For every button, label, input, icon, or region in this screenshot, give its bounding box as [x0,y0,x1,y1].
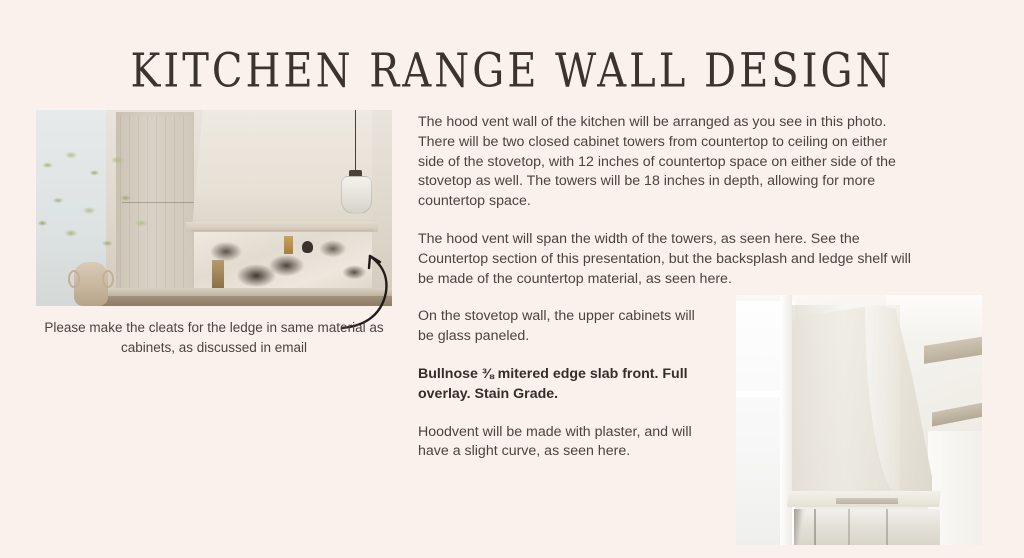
left-reference-photo [36,110,392,306]
paragraph-2: The hood vent will span the width of the… [418,230,914,289]
photo-marble-vein [886,509,888,545]
paragraph-3: On the stovetop wall, the upper cabinets… [418,307,714,347]
photo-counter-item-dark [302,241,313,253]
photo-ledge-shelf [192,226,374,231]
photo-counter-item-brass [284,236,293,254]
photo-marble-vein [848,509,850,545]
slide-canvas: KITCHEN RANGE WALL DESIGN Please make th… [0,0,1024,558]
paragraph-5: Hoodvent will be made with plaster, and … [418,423,714,463]
left-photo-caption: Please make the cleats for the ledge in … [36,318,392,358]
photo-vase [74,262,108,306]
photo-pendant-light [341,176,372,214]
page-title: KITCHEN RANGE WALL DESIGN [0,44,1024,98]
photo-counter-item-jar [212,260,224,288]
photo-pendant-cord [355,110,356,176]
photo-branches [36,140,162,266]
paragraph-1: The hood vent wall of the kitchen will b… [418,113,914,212]
paragraph-4-bold-spec: Bullnose ⅜ mitered edge slab front. Full… [418,365,714,405]
photo-vent-slot [836,498,898,504]
photo-marble-vein [814,509,816,545]
body-text-column: The hood vent wall of the kitchen will b… [418,113,914,462]
